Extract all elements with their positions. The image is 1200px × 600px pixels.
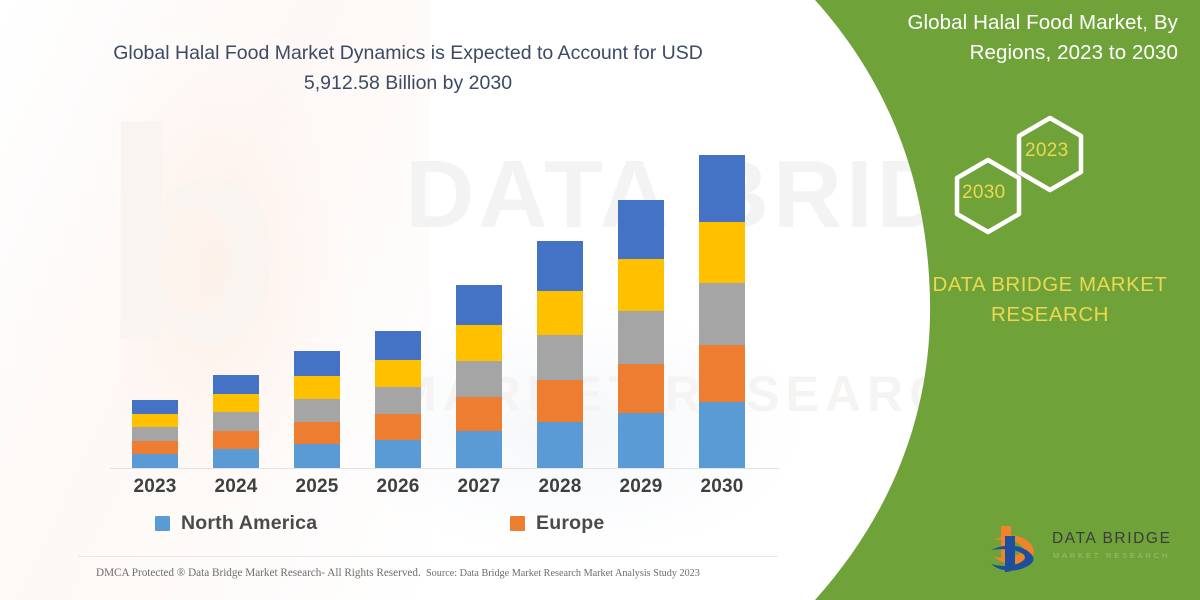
bar-segment <box>537 291 583 335</box>
bar-segment <box>618 364 664 413</box>
x-axis-label: 2027 <box>439 476 519 498</box>
hexagon-2023-label: 2023 <box>1025 140 1068 162</box>
bar-segment <box>618 413 664 468</box>
legend-item[interactable]: Europe <box>510 512 604 535</box>
bar-segment <box>456 285 502 325</box>
bar-segment <box>456 397 502 431</box>
chart-legend: North AmericaEurope <box>110 512 710 540</box>
legend-swatch-icon <box>510 516 525 531</box>
bar-segment <box>213 431 259 449</box>
bar-segment <box>537 335 583 380</box>
brand-name: DATA BRIDGE MARKET RESEARCH <box>905 270 1195 330</box>
x-axis-label: 2030 <box>682 476 762 498</box>
bar-segment <box>294 422 340 444</box>
bar-column <box>375 331 421 468</box>
bar-segment <box>375 414 421 440</box>
bar-segment <box>699 222 745 283</box>
bar-segment <box>537 380 583 422</box>
x-axis-label: 2026 <box>358 476 438 498</box>
bar-segment <box>375 331 421 360</box>
bar-segment <box>618 200 664 259</box>
bar-segment <box>456 361 502 397</box>
bar-column <box>294 351 340 468</box>
panel-title: Global Halal Food Market, By Regions, 20… <box>848 8 1178 68</box>
x-axis-label: 2028 <box>520 476 600 498</box>
brand-line-2: RESEARCH <box>905 300 1195 330</box>
bar-segment <box>294 444 340 468</box>
bar-segment <box>294 376 340 399</box>
x-axis-label: 2029 <box>601 476 681 498</box>
bar-segment <box>132 454 178 468</box>
bar-segment <box>537 422 583 468</box>
bar-column <box>537 241 583 468</box>
bar-segment <box>213 412 259 431</box>
bar-segment <box>132 427 178 441</box>
x-axis-label: 2023 <box>115 476 195 498</box>
chart-title: Global Halal Food Market Dynamics is Exp… <box>78 38 738 98</box>
x-axis-labels: 20232024202520262027202820292030 <box>110 476 780 502</box>
x-axis-label: 2025 <box>277 476 357 498</box>
bar-segment <box>375 440 421 468</box>
legend-swatch-icon <box>155 516 170 531</box>
bar-column <box>132 400 178 468</box>
footer-dmca: DMCA Protected ® Data Bridge Market Rese… <box>96 567 421 579</box>
bar-column <box>699 155 745 468</box>
bar-segment <box>618 259 664 311</box>
bar-segment <box>132 400 178 414</box>
bar-column <box>618 200 664 468</box>
footer-source: Source: Data Bridge Market Research Mark… <box>426 568 700 579</box>
bar-segment <box>375 360 421 387</box>
hexagon-2030-label: 2030 <box>962 182 1005 204</box>
legend-label: North America <box>181 512 317 535</box>
bar-segment <box>294 351 340 376</box>
bar-segment <box>132 441 178 454</box>
bar-segment <box>213 449 259 468</box>
bar-segment <box>456 325 502 361</box>
legend-item[interactable]: North America <box>155 512 317 535</box>
bar-segment <box>537 241 583 291</box>
bar-segment <box>699 283 745 345</box>
bar-column <box>213 375 259 468</box>
logo-tagline: MARKET RESEARCH <box>1053 551 1170 560</box>
bar-segment <box>294 399 340 422</box>
bar-column <box>456 285 502 468</box>
footer-divider <box>78 556 778 557</box>
bar-segment <box>213 375 259 394</box>
legend-label: Europe <box>536 512 604 535</box>
infographic-canvas: b DATA BRIDGE MARKET RESEARCH Global Hal… <box>0 0 1200 600</box>
bar-segment <box>699 345 745 402</box>
bar-segment <box>456 431 502 468</box>
bar-segment <box>132 414 178 427</box>
bar-segment <box>699 155 745 222</box>
bar-segment <box>213 394 259 412</box>
x-axis-label: 2024 <box>196 476 276 498</box>
bar-segment <box>618 311 664 364</box>
logo-wordmark: DATA BRIDGE <box>1052 530 1172 548</box>
chart-axis-line <box>110 468 780 469</box>
brand-line-1: DATA BRIDGE MARKET <box>905 270 1195 300</box>
stacked-bar-chart <box>110 118 780 468</box>
bar-segment <box>375 387 421 414</box>
bar-segment <box>699 402 745 468</box>
